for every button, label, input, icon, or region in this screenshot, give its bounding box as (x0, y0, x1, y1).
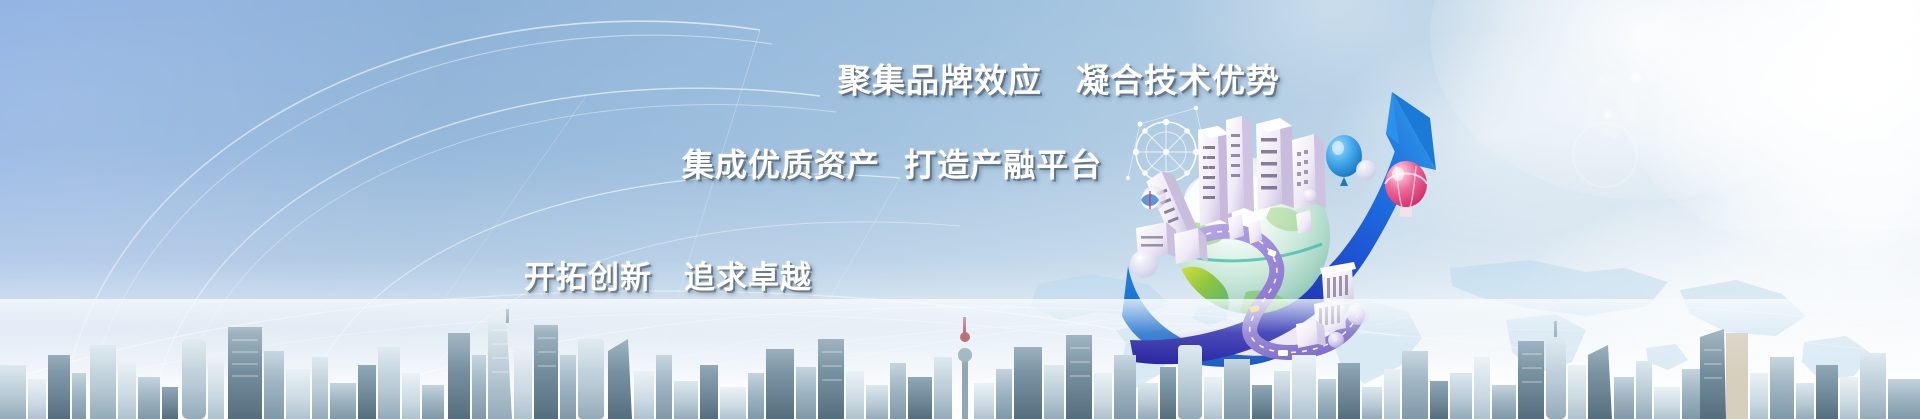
promotional-banner: 聚集品牌效应 凝合技术优势 集成优质资产 打造产融平台 开拓创新 追求卓越 (0, 0, 1920, 419)
slogan-innovation-excellence: 开拓创新 追求卓越 (524, 252, 812, 297)
slogan-group: 聚集品牌效应 凝合技术优势 集成优质资产 打造产融平台 开拓创新 追求卓越 (0, 0, 1920, 419)
slogan-brand-technology: 聚集品牌效应 凝合技术优势 (838, 54, 1280, 102)
slogan-assets-platform: 集成优质资产 打造产融平台 (682, 140, 1102, 186)
